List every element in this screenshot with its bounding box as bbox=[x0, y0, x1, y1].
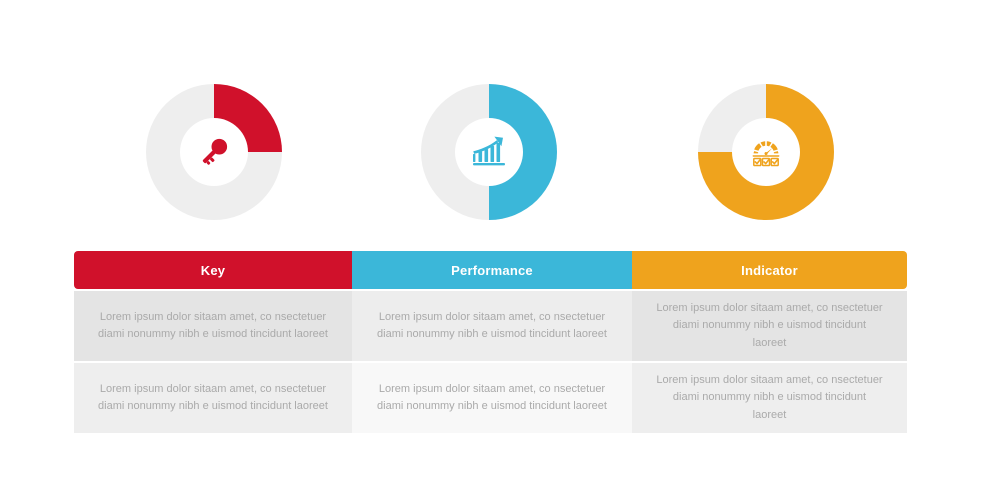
key-icon bbox=[196, 134, 232, 170]
table-cell-key-2: Lorem ipsum dolor sitaam amet, co nsecte… bbox=[74, 363, 352, 433]
table-cell-indicator-2: Lorem ipsum dolor sitaam amet, co nsecte… bbox=[632, 363, 907, 433]
donut-inner-indicator bbox=[732, 118, 800, 186]
donut-letter-performance: P bbox=[957, 231, 965, 242]
donut-chart-performance[interactable]: P bbox=[421, 84, 557, 220]
donut-chart-key[interactable]: K bbox=[146, 84, 282, 220]
table-cell-indicator-1: Lorem ipsum dolor sitaam amet, co nsecte… bbox=[632, 291, 907, 361]
table-row: Lorem ipsum dolor sitaam amet, co nsecte… bbox=[74, 363, 907, 433]
table-header-row: Key Performance Indicator bbox=[74, 251, 907, 289]
table-cell-performance-1: Lorem ipsum dolor sitaam amet, co nsecte… bbox=[352, 291, 632, 361]
infographic-canvas: K bbox=[0, 0, 981, 500]
donut-letter-key: K bbox=[390, 194, 398, 205]
table-header-indicator[interactable]: Indicator bbox=[632, 251, 907, 289]
table-row: Lorem ipsum dolor sitaam amet, co nsecte… bbox=[74, 291, 907, 361]
comparison-table: Key Performance Indicator Lorem ipsum do… bbox=[74, 251, 907, 433]
gauge-checklist-icon bbox=[746, 135, 786, 169]
donut-inner-performance bbox=[455, 118, 523, 186]
donut-chart-indicator[interactable]: I bbox=[698, 84, 834, 220]
donut-chart-group: K bbox=[0, 0, 981, 248]
table-cell-performance-2: Lorem ipsum dolor sitaam amet, co nsecte… bbox=[352, 363, 632, 433]
table-header-key[interactable]: Key bbox=[74, 251, 352, 289]
table-header-performance[interactable]: Performance bbox=[352, 251, 632, 289]
donut-inner-key bbox=[180, 118, 248, 186]
table-cell-key-1: Lorem ipsum dolor sitaam amet, co nsecte… bbox=[74, 291, 352, 361]
growth-bar-chart-icon bbox=[469, 134, 509, 170]
